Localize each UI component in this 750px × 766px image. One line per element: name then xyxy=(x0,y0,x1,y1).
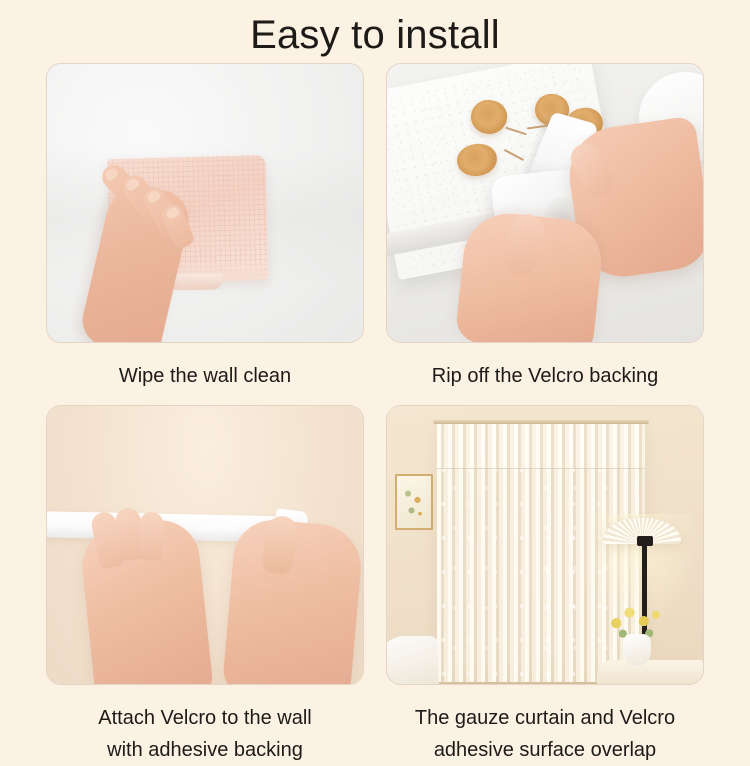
chair xyxy=(386,636,439,685)
side-table xyxy=(597,660,704,685)
step-caption-4-line2: adhesive surface overlap xyxy=(386,734,704,766)
step-card-1: Wipe the wall clean xyxy=(46,63,364,392)
step-caption-2: Rip off the Velcro backing xyxy=(386,360,704,392)
step-caption-1-line1: Wipe the wall clean xyxy=(119,365,291,387)
fingernail-icon xyxy=(103,166,119,182)
step-photo-3 xyxy=(46,405,364,685)
step-caption-3: Attach Velcro to the wall with adhesive … xyxy=(46,702,364,766)
step-caption-2-line1: Rip off the Velcro backing xyxy=(432,365,658,387)
finger-icon xyxy=(138,512,164,561)
flower-vase xyxy=(623,634,651,666)
fingernail-icon xyxy=(165,206,181,220)
steps-grid: Wipe the wall clean Rip off the Velcro b… xyxy=(46,63,704,723)
step-photo-2 xyxy=(386,63,704,343)
step-caption-1: Wipe the wall clean xyxy=(46,360,364,392)
page-title: Easy to install xyxy=(0,12,750,58)
fingernail-icon xyxy=(124,176,140,192)
step-photo-1 xyxy=(46,63,364,343)
step-card-3: Attach Velcro to the wall with adhesive … xyxy=(46,405,364,766)
hand-fingers xyxy=(47,64,363,342)
step-caption-3-line2: with adhesive backing xyxy=(46,734,364,766)
step-caption-3-line1: Attach Velcro to the wall xyxy=(98,707,311,729)
step-card-4: The gauze curtain and Velcro adhesive su… xyxy=(386,405,704,766)
step-card-2: Rip off the Velcro backing xyxy=(386,63,704,392)
curtain-valance xyxy=(437,424,645,469)
step-photo-4 xyxy=(386,405,704,685)
fingernail-icon xyxy=(145,189,161,204)
framed-botanical-print xyxy=(395,474,433,530)
step-caption-4-line1: The gauze curtain and Velcro xyxy=(415,707,675,729)
step-caption-4: The gauze curtain and Velcro adhesive su… xyxy=(386,702,704,766)
